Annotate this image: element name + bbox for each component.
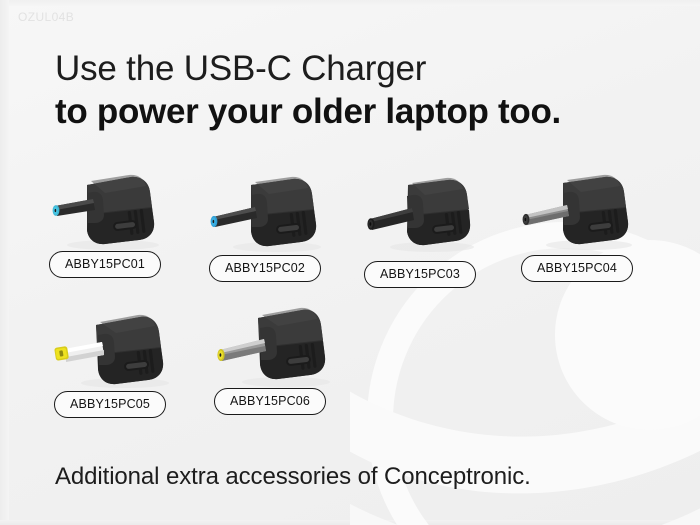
background-top-edge — [0, 0, 700, 6]
adapter-image-abby15pc01 — [25, 165, 185, 251]
product-row-2: ABBY15PC05 — [0, 305, 700, 425]
product-label-abby15pc06[interactable]: ABBY15PC06 — [214, 388, 326, 415]
product-label-abby15pc04[interactable]: ABBY15PC04 — [521, 255, 633, 282]
product-label-abby15pc01[interactable]: ABBY15PC01 — [49, 251, 161, 278]
product-row-1: ABBY15PC01 — [0, 165, 700, 285]
adapter-image-abby15pc05 — [30, 305, 190, 391]
adapter-image-abby15pc02 — [185, 169, 345, 255]
headline-block: Use the USB-C Charger to power your olde… — [55, 48, 675, 134]
adapter-image-abby15pc03 — [340, 175, 500, 261]
product-card-abby15pc06[interactable]: ABBY15PC06 — [190, 302, 350, 415]
headline-line-2: to power your older laptop too. — [55, 90, 675, 134]
product-label-abby15pc02[interactable]: ABBY15PC02 — [209, 255, 321, 282]
product-label-abby15pc03[interactable]: ABBY15PC03 — [364, 261, 476, 288]
headline-line-1: Use the USB-C Charger — [55, 48, 675, 90]
product-card-abby15pc03[interactable]: ABBY15PC03 — [340, 175, 500, 288]
adapter-image-abby15pc06 — [190, 302, 350, 388]
product-card-abby15pc01[interactable]: ABBY15PC01 — [25, 165, 185, 278]
corner-product-code: OZUL04B — [18, 10, 74, 24]
footer-tagline: Additional extra accessories of Conceptr… — [55, 462, 531, 492]
product-card-abby15pc05[interactable]: ABBY15PC05 — [30, 305, 190, 418]
product-card-abby15pc04[interactable]: ABBY15PC04 — [497, 169, 657, 282]
product-card-abby15pc02[interactable]: ABBY15PC02 — [185, 169, 345, 282]
poster-canvas: OZUL04B Use the USB-C Charger to power y… — [0, 0, 700, 525]
product-label-abby15pc05[interactable]: ABBY15PC05 — [54, 391, 166, 418]
adapter-image-abby15pc04 — [497, 169, 657, 255]
background-bottom-edge — [0, 520, 700, 525]
